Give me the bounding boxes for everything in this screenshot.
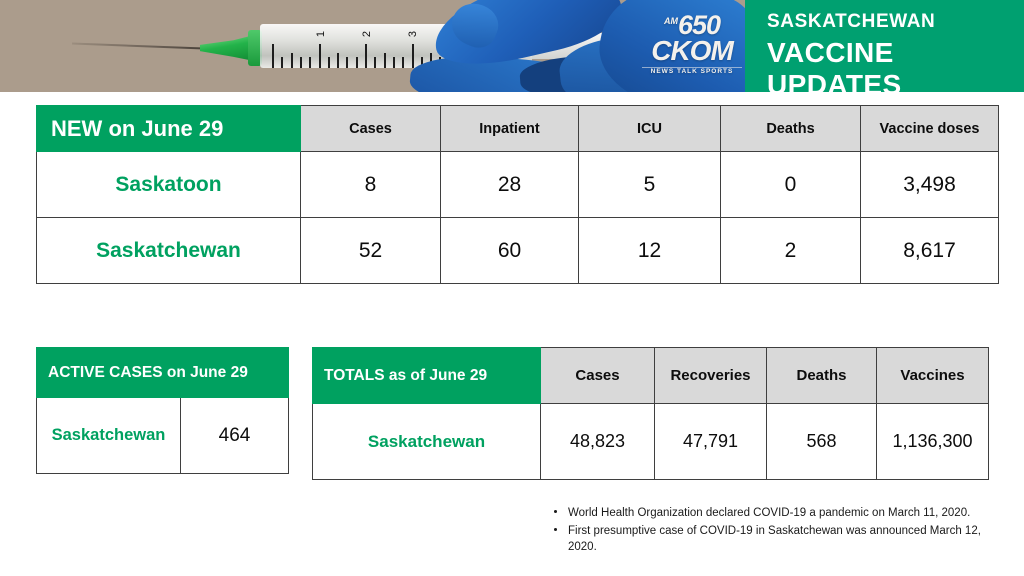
logo-am-label: AM [664,16,678,26]
bullet-icon [554,528,557,531]
cell-saskatchewan-cases: 52 [301,218,441,284]
active-table-title: ACTIVE CASES on June 29 [37,348,289,398]
table-header-row: TOTALS as of June 29 Cases Recoveries De… [313,348,989,404]
table-row: Saskatoon 8 28 5 0 3,498 [37,152,999,218]
active-row-value: 464 [181,398,289,474]
syringe-photo: 123 AM650 CKOM NEWS TALK SPORTS [0,0,745,92]
totals-cell-vaccines: 1,136,300 [877,404,989,480]
new-table-title: NEW on June 29 [37,106,301,152]
cell-saskatchewan-deaths: 2 [721,218,861,284]
totals-column-header-vaccines: Vaccines [877,348,989,404]
totals-table-title: TOTALS as of June 29 [313,348,541,404]
row-region-saskatchewan: Saskatchewan [37,218,301,284]
totals-row-region: Saskatchewan [313,404,541,480]
ckom-logo: AM650 CKOM NEWS TALK SPORTS [642,12,742,76]
bullet-icon [554,510,557,513]
banner-subtitle: SASKATCHEWAN [767,11,1024,33]
totals-column-header-deaths: Deaths [767,348,877,404]
active-cases-table: ACTIVE CASES on June 29 Saskatchewan 464 [36,347,289,474]
cell-saskatoon-icu: 5 [579,152,721,218]
footnotes-list: World Health Organization declared COVID… [548,505,1000,557]
totals-cell-recoveries: 47,791 [655,404,767,480]
cell-saskatoon-cases: 8 [301,152,441,218]
totals-column-header-recoveries: Recoveries [655,348,767,404]
table-header-row: ACTIVE CASES on June 29 [37,348,289,398]
footnote-text: World Health Organization declared COVID… [568,507,970,519]
syringe-hub-icon [200,35,254,61]
new-cases-table: NEW on June 29 Cases Inpatient ICU Death… [36,105,999,284]
footnote-text: First presumptive case of COVID-19 in Sa… [568,525,981,554]
table-row: Saskatchewan 52 60 12 2 8,617 [37,218,999,284]
cell-saskatoon-inpatient: 28 [441,152,579,218]
table-header-row: NEW on June 29 Cases Inpatient ICU Death… [37,106,999,152]
header-banner: 123 AM650 CKOM NEWS TALK SPORTS SASKATCH… [0,0,1024,92]
totals-cell-deaths: 568 [767,404,877,480]
banner-title-block: SASKATCHEWAN VACCINE UPDATES [745,0,1024,92]
column-header-icu: ICU [579,106,721,152]
syringe-needle-icon [72,42,204,49]
totals-table: TOTALS as of June 29 Cases Recoveries De… [312,347,989,480]
cell-saskatchewan-vaccine-doses: 8,617 [861,218,999,284]
cell-saskatchewan-inpatient: 60 [441,218,579,284]
column-header-deaths: Deaths [721,106,861,152]
footnote-item: World Health Organization declared COVID… [548,505,1000,522]
column-header-vaccine-doses: Vaccine doses [861,106,999,152]
totals-cell-cases: 48,823 [541,404,655,480]
totals-column-header-cases: Cases [541,348,655,404]
cell-saskatchewan-icu: 12 [579,218,721,284]
column-header-cases: Cases [301,106,441,152]
cell-saskatoon-vaccine-doses: 3,498 [861,152,999,218]
logo-tagline: NEWS TALK SPORTS [642,67,742,76]
logo-callsign: CKOM [642,37,742,65]
cell-saskatoon-deaths: 0 [721,152,861,218]
row-region-saskatoon: Saskatoon [37,152,301,218]
banner-heading: VACCINE UPDATES [767,37,1024,101]
active-row-region: Saskatchewan [37,398,181,474]
column-header-inpatient: Inpatient [441,106,579,152]
footnote-item: First presumptive case of COVID-19 in Sa… [548,523,1000,556]
table-row: Saskatchewan 48,823 47,791 568 1,136,300 [313,404,989,480]
table-row: Saskatchewan 464 [37,398,289,474]
